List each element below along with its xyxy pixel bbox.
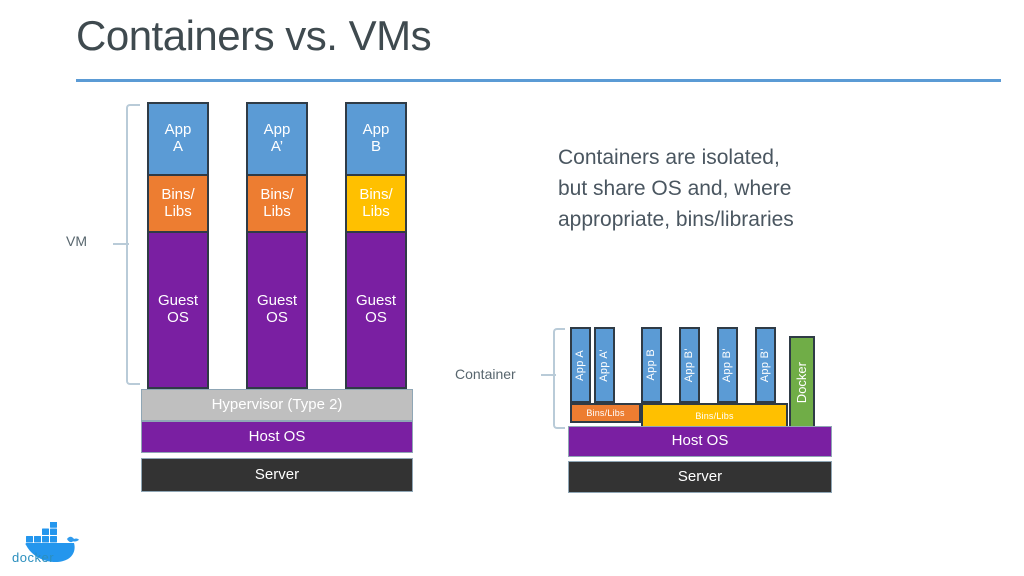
vm-app-label-3-line2: B bbox=[371, 139, 381, 156]
vm-guest-label-3-line1: Guest bbox=[356, 293, 396, 310]
vm-group-label: VM bbox=[66, 233, 87, 249]
docker-logo-text: docker bbox=[12, 550, 54, 565]
slide-canvas: Containers vs. VMs Containers are isolat… bbox=[0, 0, 1024, 576]
vm-app-block-1: App A bbox=[147, 102, 209, 176]
container-host-os-layer: Host OS bbox=[568, 426, 832, 457]
vm-host-os-layer: Host OS bbox=[141, 421, 413, 453]
container-bracket bbox=[553, 328, 565, 429]
vm-guest-label-3-line2: OS bbox=[365, 310, 387, 327]
vm-bins-label-1-line1: Bins/ bbox=[161, 187, 194, 204]
container-server-layer: Server bbox=[568, 461, 832, 493]
caption-line-1: Containers are isolated, bbox=[558, 142, 898, 173]
vm-bins-block-1: Bins/ Libs bbox=[147, 176, 209, 233]
container-docker-column: Docker bbox=[789, 336, 815, 429]
container-app-label-4: App B’ bbox=[683, 348, 695, 382]
vm-server-layer: Server bbox=[141, 458, 413, 492]
vm-app-block-3: App B bbox=[345, 102, 407, 176]
vm-bins-block-3: Bins/ Libs bbox=[345, 176, 407, 233]
vm-bins-label-1-line2: Libs bbox=[164, 204, 192, 221]
vm-guest-label-1-line2: OS bbox=[167, 310, 189, 327]
vm-guest-label-2-line1: Guest bbox=[257, 293, 297, 310]
vm-app-label-3-line1: App bbox=[363, 122, 390, 139]
container-app-column-2: App A’ bbox=[594, 327, 615, 403]
vm-app-block-2: App A’ bbox=[246, 102, 308, 176]
container-group-label: Container bbox=[455, 366, 516, 382]
container-app-label-3: App B bbox=[645, 349, 657, 380]
container-app-column-5: App B’ bbox=[717, 327, 738, 403]
container-app-label-6: App B’ bbox=[759, 348, 771, 382]
vm-app-label-2-line1: App bbox=[264, 122, 291, 139]
vm-bins-label-2-line2: Libs bbox=[263, 204, 291, 221]
caption-line-3: appropriate, bins/libraries bbox=[558, 204, 898, 235]
vm-guest-os-block-1: Guest OS bbox=[147, 233, 209, 389]
container-app-column-1: App A bbox=[570, 327, 591, 403]
container-app-label-1: App A bbox=[574, 350, 586, 381]
vm-guest-os-block-2: Guest OS bbox=[246, 233, 308, 389]
vm-app-label-1-line2: A bbox=[173, 139, 183, 156]
vm-guest-label-1-line1: Guest bbox=[158, 293, 198, 310]
container-app-label-2: App A’ bbox=[598, 349, 610, 382]
vm-bins-label-3-line2: Libs bbox=[362, 204, 390, 221]
vm-app-label-1-line1: App bbox=[165, 122, 192, 139]
container-bracket-nub bbox=[541, 374, 556, 376]
page-title: Containers vs. VMs bbox=[76, 12, 431, 60]
container-bins-libs-left: Bins/Libs bbox=[570, 403, 641, 423]
vm-bins-block-2: Bins/ Libs bbox=[246, 176, 308, 233]
caption-text: Containers are isolated, but share OS an… bbox=[558, 142, 898, 235]
title-divider bbox=[76, 79, 1001, 82]
vm-guest-os-block-3: Guest OS bbox=[345, 233, 407, 389]
vm-app-label-2-line2: A’ bbox=[271, 139, 283, 156]
container-app-column-3: App B bbox=[641, 327, 662, 403]
container-docker-label: Docker bbox=[795, 362, 810, 403]
vm-hypervisor-layer: Hypervisor (Type 2) bbox=[141, 389, 413, 421]
vm-guest-label-2-line2: OS bbox=[266, 310, 288, 327]
vm-bins-label-3-line1: Bins/ bbox=[359, 187, 392, 204]
container-app-column-6: App B’ bbox=[755, 327, 776, 403]
vm-bins-label-2-line1: Bins/ bbox=[260, 187, 293, 204]
caption-line-2: but share OS and, where bbox=[558, 173, 898, 204]
container-app-column-4: App B’ bbox=[679, 327, 700, 403]
container-app-label-5: App B’ bbox=[721, 348, 733, 382]
vm-bracket-nub bbox=[113, 243, 129, 245]
